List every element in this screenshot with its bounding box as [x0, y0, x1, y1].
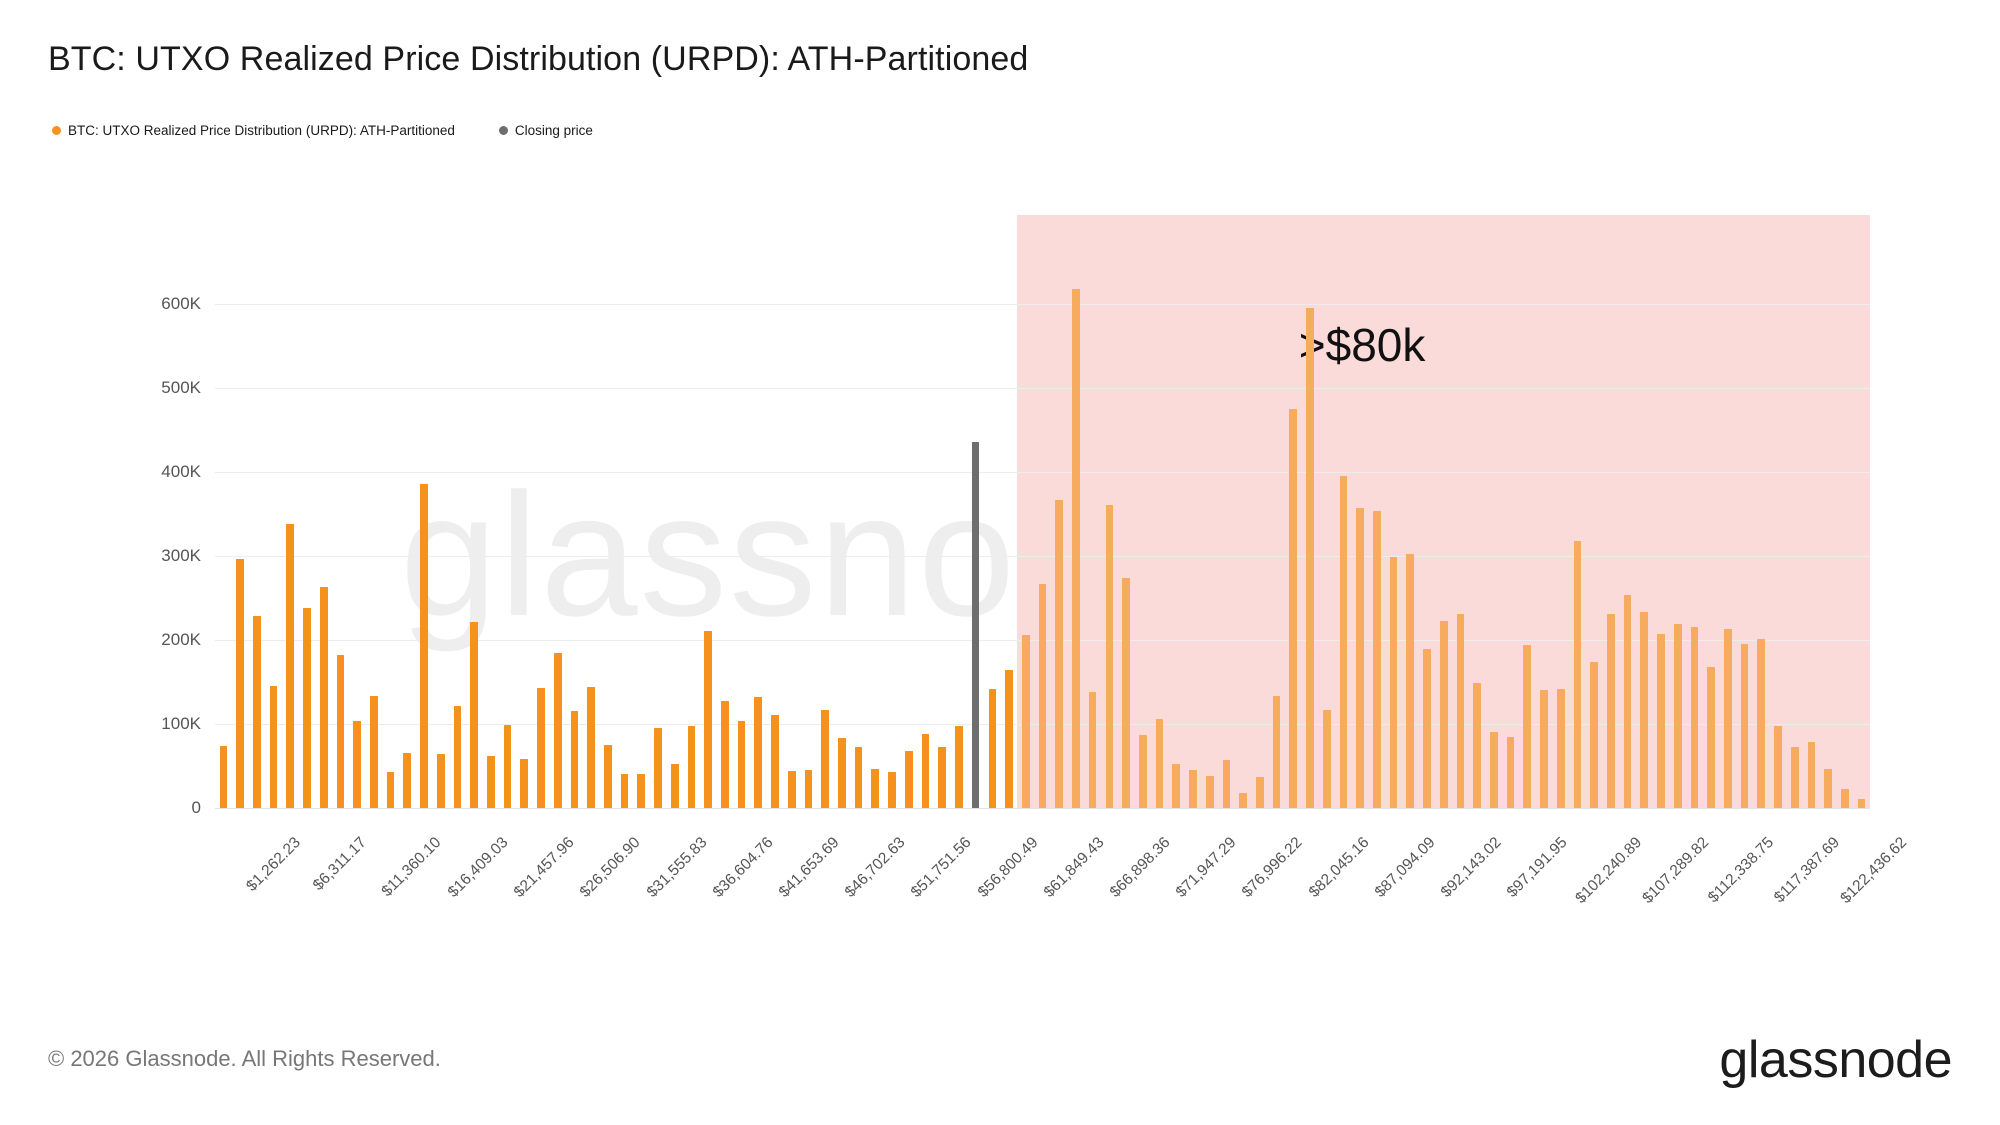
x-axis-tick-label: $61,849.43	[1040, 834, 1108, 902]
bar[interactable]	[1523, 645, 1531, 808]
x-axis-tick-label: $92,143.02	[1438, 834, 1506, 902]
x-axis-tick-label: $46,702.63	[842, 834, 910, 902]
bar[interactable]	[1306, 308, 1314, 808]
bar[interactable]	[1440, 621, 1448, 808]
bar[interactable]	[1791, 747, 1799, 808]
x-axis-tick-label: $36,604.76	[709, 834, 777, 902]
bar[interactable]	[1055, 500, 1063, 809]
y-axis-tick-label: 0	[192, 798, 201, 818]
bar[interactable]	[821, 710, 829, 808]
x-axis-tick-label: $11,360.10	[378, 834, 445, 901]
bar[interactable]	[454, 706, 462, 808]
x-axis-tick-label: $26,506.90	[577, 834, 645, 902]
x-axis-tick-label: $76,996.22	[1239, 834, 1307, 902]
bar[interactable]	[1406, 554, 1414, 808]
bar[interactable]	[1039, 584, 1047, 808]
footer-copyright: © 2026 Glassnode. All Rights Reserved.	[48, 1046, 441, 1072]
bar[interactable]	[1507, 737, 1515, 808]
bar[interactable]	[1089, 692, 1097, 808]
bar[interactable]	[938, 747, 946, 808]
bar[interactable]	[303, 608, 311, 808]
bar[interactable]	[1106, 505, 1114, 808]
bar[interactable]	[1206, 776, 1214, 808]
bar[interactable]	[1691, 627, 1699, 808]
y-axis-tick-label: 100K	[161, 714, 201, 734]
bar[interactable]	[253, 616, 261, 808]
bar[interactable]	[1640, 612, 1648, 808]
bar[interactable]	[1189, 770, 1197, 808]
bar[interactable]	[1239, 793, 1247, 808]
bar[interactable]	[1724, 629, 1732, 808]
bar[interactable]	[1557, 689, 1565, 808]
bar[interactable]	[337, 655, 345, 808]
bar[interactable]	[1423, 649, 1431, 808]
bar[interactable]	[1273, 696, 1281, 808]
bar[interactable]	[1373, 511, 1381, 808]
bar[interactable]	[1574, 541, 1582, 808]
x-axis-tick-label: $71,947.29	[1173, 834, 1241, 902]
bar[interactable]	[387, 772, 395, 808]
bar[interactable]	[1674, 624, 1682, 808]
bar[interactable]	[671, 764, 679, 808]
bar[interactable]	[1741, 644, 1749, 808]
x-axis-tick-label: $66,898.36	[1107, 834, 1175, 902]
bar[interactable]	[1323, 710, 1331, 808]
bar[interactable]	[1590, 662, 1598, 808]
bar[interactable]	[704, 631, 712, 808]
bar[interactable]	[989, 689, 997, 808]
bar-series[interactable]	[215, 270, 1870, 808]
bar[interactable]	[437, 754, 445, 808]
bar[interactable]	[604, 745, 612, 808]
bar[interactable]	[855, 747, 863, 808]
bar[interactable]	[888, 772, 896, 808]
y-axis-tick-label: 300K	[161, 546, 201, 566]
x-axis-tick-label: $16,409.03	[445, 834, 513, 902]
bar[interactable]	[1473, 683, 1481, 808]
x-axis-tick-label: $31,555.83	[643, 834, 711, 902]
bar[interactable]	[721, 701, 729, 808]
bar[interactable]	[805, 770, 813, 808]
bar[interactable]	[504, 725, 512, 808]
x-axis-tick-label: $107,289.82	[1639, 834, 1713, 908]
x-axis-tick-label: $1,262.23	[244, 834, 305, 895]
bar[interactable]	[654, 728, 662, 808]
bar[interactable]	[1808, 742, 1816, 808]
bar[interactable]	[1139, 735, 1147, 808]
closing-price-bar[interactable]	[972, 442, 979, 808]
bar[interactable]	[571, 711, 579, 809]
bar[interactable]	[1490, 732, 1498, 808]
gridline	[215, 808, 1870, 809]
bar[interactable]	[1657, 634, 1665, 808]
glassnode-logo: glassnode	[1719, 1030, 1952, 1090]
x-axis-tick-label: $21,457.96	[511, 834, 579, 902]
x-axis-tick-label: $51,751.56	[908, 834, 976, 902]
bar[interactable]	[1824, 769, 1832, 809]
bar[interactable]	[1022, 635, 1030, 808]
x-axis-tick-label: $97,191.95	[1504, 834, 1572, 902]
bar[interactable]	[637, 774, 645, 808]
bar[interactable]	[470, 622, 478, 808]
bar[interactable]	[771, 715, 779, 808]
bar[interactable]	[788, 771, 796, 808]
y-axis-tick-label: 200K	[161, 630, 201, 650]
bar[interactable]	[1223, 760, 1231, 808]
bar[interactable]	[1256, 777, 1264, 808]
bar[interactable]	[1390, 557, 1398, 808]
bar[interactable]	[236, 559, 244, 808]
x-axis-tick-label: $56,800.49	[974, 834, 1042, 902]
x-axis-tick-label: $112,338.75	[1705, 834, 1778, 907]
bar[interactable]	[320, 587, 328, 808]
bar[interactable]	[1356, 508, 1364, 808]
x-axis-tick-label: $117,387.69	[1771, 834, 1844, 907]
bar[interactable]	[955, 726, 963, 808]
bar[interactable]	[520, 759, 528, 808]
bar[interactable]	[1005, 670, 1013, 808]
x-axis-tick-label: $6,311.17	[309, 834, 370, 895]
bar[interactable]	[1289, 409, 1297, 808]
bar[interactable]	[487, 756, 495, 808]
bar[interactable]	[871, 769, 879, 809]
bar[interactable]	[1607, 614, 1615, 808]
bar[interactable]	[1841, 789, 1849, 808]
bar[interactable]	[1457, 614, 1465, 808]
bar[interactable]	[370, 696, 378, 808]
y-axis-tick-label: 500K	[161, 378, 201, 398]
bar[interactable]	[587, 687, 595, 808]
bar[interactable]	[688, 726, 696, 808]
x-axis-tick-label: $102,240.89	[1573, 834, 1647, 908]
bar[interactable]	[537, 688, 545, 808]
bar[interactable]	[1624, 595, 1632, 808]
bar[interactable]	[922, 734, 930, 808]
bar[interactable]	[1540, 690, 1548, 808]
x-axis-tick-label: $41,653.69	[776, 834, 844, 902]
bar[interactable]	[1340, 476, 1348, 808]
bar[interactable]	[621, 774, 629, 808]
bar[interactable]	[1172, 764, 1180, 808]
bar[interactable]	[1072, 289, 1080, 808]
bar[interactable]	[754, 697, 762, 808]
bar[interactable]	[838, 738, 846, 808]
x-axis-tick-label: $87,094.09	[1371, 834, 1439, 902]
bar[interactable]	[1757, 639, 1765, 808]
bar[interactable]	[420, 484, 428, 808]
bar[interactable]	[905, 751, 913, 808]
bar[interactable]	[738, 721, 746, 808]
bar[interactable]	[286, 524, 294, 808]
bar[interactable]	[1858, 799, 1866, 808]
bar[interactable]	[220, 746, 228, 808]
bar[interactable]	[270, 686, 278, 808]
x-axis-tick-label: $122,436.62	[1837, 834, 1911, 908]
x-axis-tick-label: $82,045.16	[1305, 834, 1373, 902]
plot-area[interactable]: >$80k 0100K200K300K400K500K600K $1,262.2…	[215, 270, 1870, 808]
bar[interactable]	[1707, 667, 1715, 808]
bar[interactable]	[1156, 719, 1164, 808]
bar[interactable]	[403, 753, 411, 808]
bar[interactable]	[353, 721, 361, 808]
bar[interactable]	[1774, 726, 1782, 808]
chart-canvas: >$80k 0100K200K300K400K500K600K $1,262.2…	[0, 0, 2000, 1125]
y-axis-tick-label: 600K	[161, 294, 201, 314]
bar[interactable]	[1122, 578, 1130, 808]
bar[interactable]	[554, 653, 562, 808]
y-axis-tick-label: 400K	[161, 462, 201, 482]
